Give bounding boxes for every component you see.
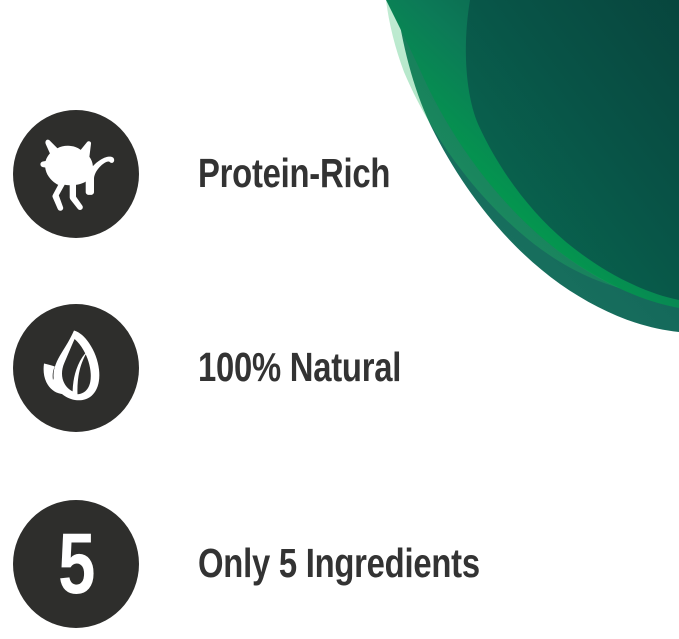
feature-label: Only 5 Ingredients <box>198 542 480 585</box>
feature-row: Protein-Rich <box>0 108 679 240</box>
leaf-badge <box>13 304 139 432</box>
number-five-icon: 5 <box>58 521 95 607</box>
feature-label: Protein-Rich <box>198 152 390 195</box>
number-five-badge: 5 <box>13 500 139 628</box>
feature-label: 100% Natural <box>198 346 401 389</box>
feature-row: 5 Only 5 Ingredients <box>0 498 679 630</box>
feature-row: 100% Natural <box>0 302 679 434</box>
leaf-icon <box>30 322 122 414</box>
feature-badge-panel: Protein-Rich 100% Natural 5 Only 5 Ingre… <box>0 0 679 639</box>
cat-icon <box>28 128 124 220</box>
cat-badge <box>13 110 139 238</box>
